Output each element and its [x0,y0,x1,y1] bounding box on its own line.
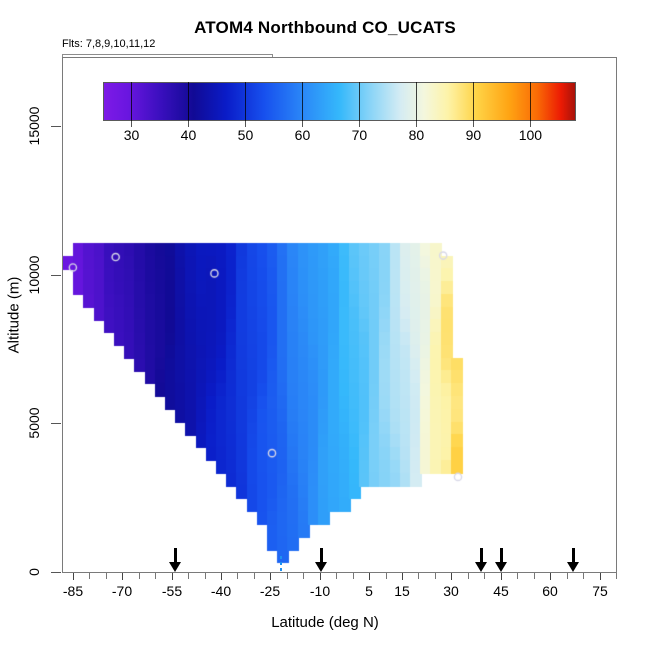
colorbar-separator [188,82,189,121]
x-axis-minor-tick [418,573,419,579]
colorbar[interactable]: 30405060708090100 [103,82,576,121]
x-axis-minor-tick [287,573,288,579]
x-axis-title: Latitude (deg N) [0,614,650,631]
x-axis-minor-tick [435,573,436,579]
x-axis-major-tick [501,573,502,580]
x-axis-major-tick [122,573,123,580]
x-axis-tick-label: 15 [375,583,429,599]
x-axis-major-tick [172,573,173,580]
colorbar-separator [416,82,417,121]
x-axis-minor-tick [616,573,617,579]
profile-arrow-marker [475,548,487,572]
x-axis-tick-label: -85 [46,583,100,599]
x-axis-minor-tick [188,573,189,579]
x-axis-minor-tick [89,573,90,579]
y-axis-tick [51,423,61,424]
profile-arrow-marker [495,548,507,572]
flights-annotation: Flts: 7,8,9,10,11,12 [62,38,155,50]
profile-arrow-marker [315,548,327,572]
blue-dashed-marker [280,556,282,573]
x-axis-major-tick [369,573,370,580]
colorbar-separator [530,82,531,121]
x-axis-minor-tick [468,573,469,579]
x-axis-tick-label: -10 [293,583,347,599]
y-axis-tick [51,126,61,127]
x-axis-minor-tick [517,573,518,579]
x-axis-minor-tick [583,573,584,579]
x-axis-minor-tick [139,573,140,579]
x-axis-minor-tick [254,573,255,579]
x-axis-tick-label: 75 [573,583,627,599]
chart-root: ATOM4 Northbound CO_UCATS Flts: 7,8,9,10… [0,0,650,650]
x-axis-major-tick [600,573,601,580]
x-axis-minor-tick [534,573,535,579]
x-axis-minor-tick [484,573,485,579]
y-axis-title: Altitude (m) [6,277,23,354]
x-axis-tick-label: 45 [474,583,528,599]
colorbar-tick-label: 80 [393,127,439,143]
x-axis-tick-label: -55 [145,583,199,599]
x-axis-minor-tick [336,573,337,579]
x-axis-major-tick [221,573,222,580]
colorbar-tick-label: 70 [336,127,382,143]
x-axis-tick-label: 60 [523,583,577,599]
x-axis-major-tick [402,573,403,580]
x-axis-tick-label: -70 [95,583,149,599]
colorbar-gradient [103,82,576,121]
x-axis-major-tick [270,573,271,580]
colorbar-tick-label: 40 [165,127,211,143]
x-axis-major-tick [550,573,551,580]
x-axis-tick-label: 30 [424,583,478,599]
x-axis-minor-tick [205,573,206,579]
y-axis-tick-label: 10000 [26,256,42,295]
x-axis-major-tick [451,573,452,580]
colorbar-separator [473,82,474,121]
y-axis-tick-label: 5000 [26,407,42,438]
colorbar-tick-label: 90 [450,127,496,143]
colorbar-tick-label: 100 [507,127,553,143]
x-axis-minor-tick [567,573,568,579]
x-axis-minor-tick [237,573,238,579]
colorbar-separator [302,82,303,121]
y-axis-tick [51,275,61,276]
x-axis-minor-tick [386,573,387,579]
x-axis-minor-tick [303,573,304,579]
colorbar-separator [245,82,246,121]
colorbar-tick-label: 60 [279,127,325,143]
profile-arrow-marker [567,548,579,572]
profile-arrow-marker [169,548,181,572]
x-axis-minor-tick [106,573,107,579]
y-axis-tick-label: 15000 [26,107,42,146]
colorbar-tick-label: 30 [108,127,154,143]
x-axis-major-tick [320,573,321,580]
y-axis-tick [51,572,61,573]
x-axis-major-tick [73,573,74,580]
page-title: ATOM4 Northbound CO_UCATS [0,18,650,38]
x-axis-tick-label: -25 [243,583,297,599]
x-axis-minor-tick [353,573,354,579]
colorbar-separator [131,82,132,121]
colorbar-tick-label: 50 [222,127,268,143]
y-axis-tick-label: 0 [26,568,42,576]
colorbar-separator [359,82,360,121]
x-axis-tick-label: -40 [194,583,248,599]
x-axis-minor-tick [155,573,156,579]
